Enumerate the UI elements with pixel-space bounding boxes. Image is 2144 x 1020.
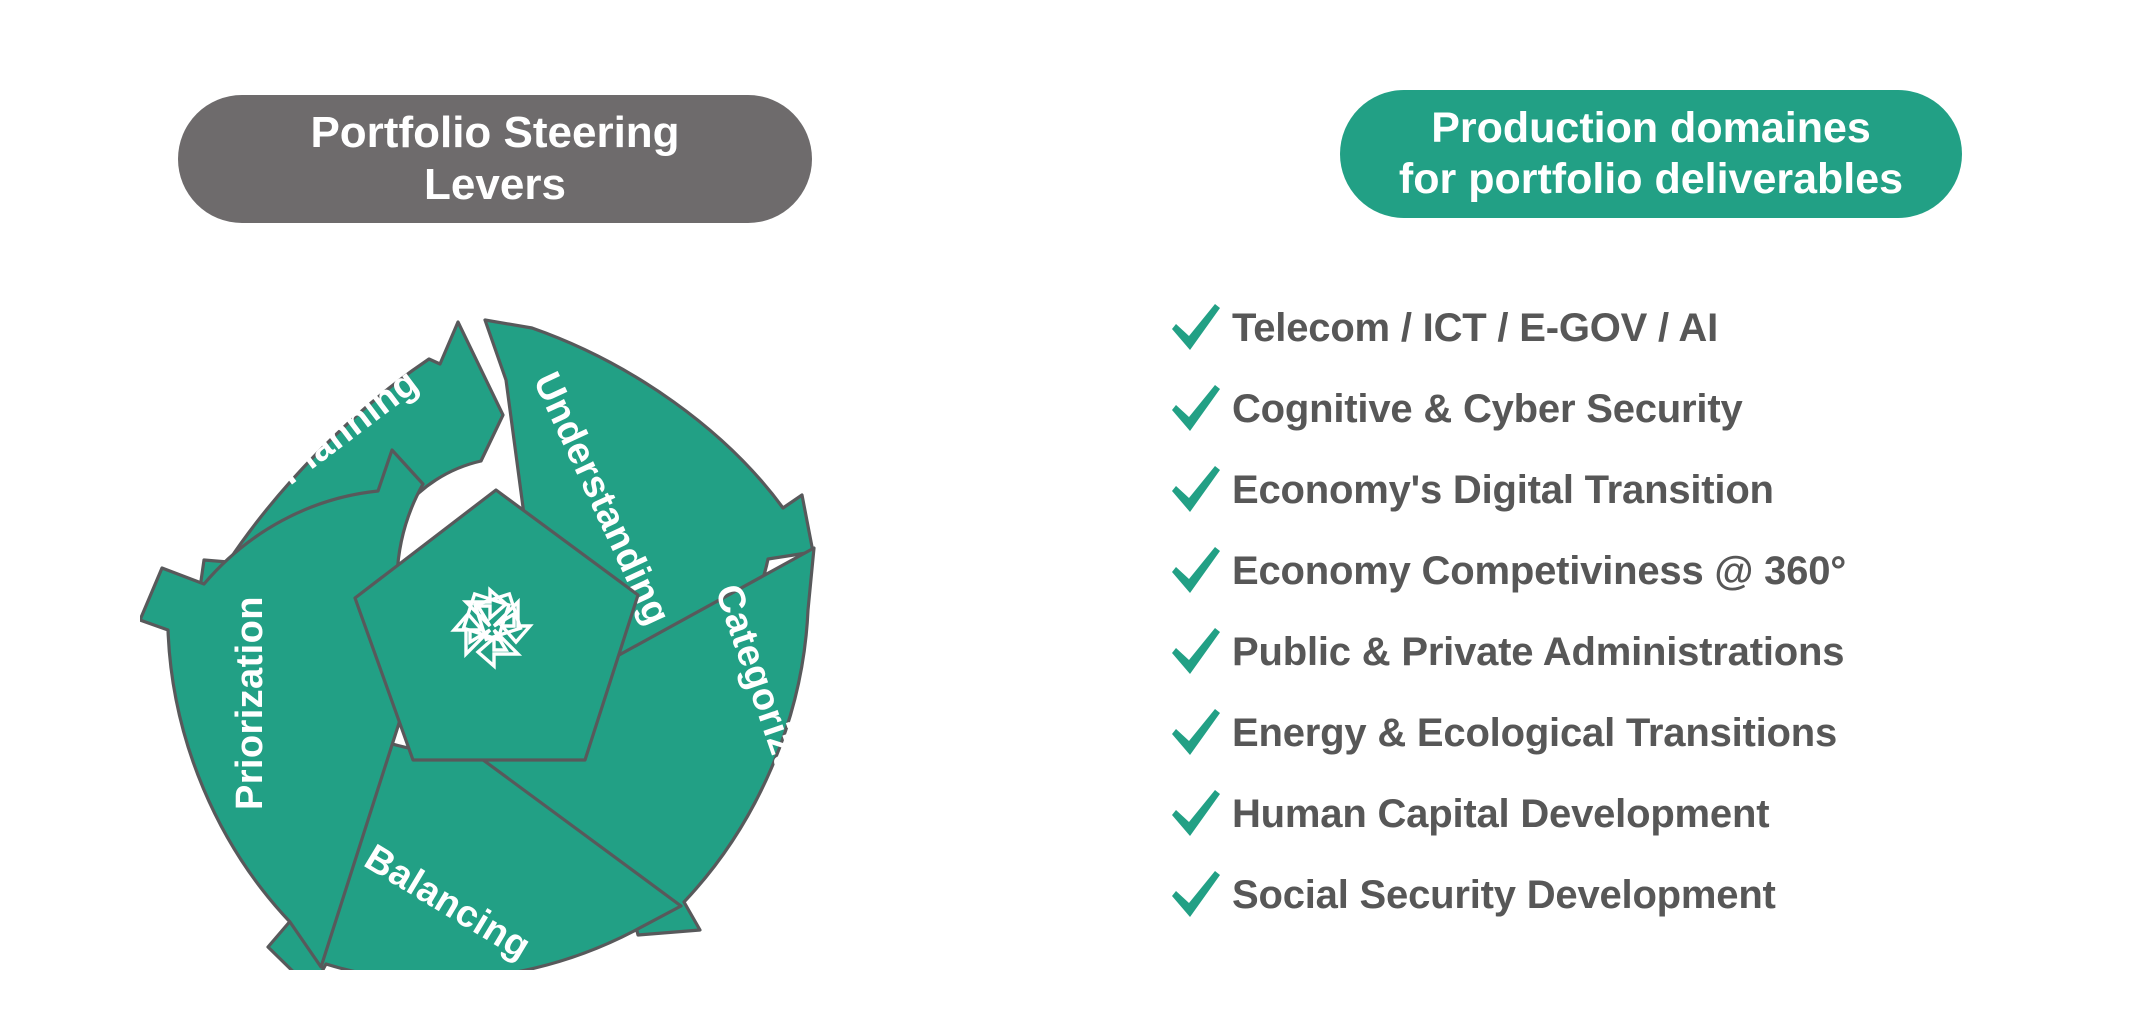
checklist-item-label: Energy & Ecological Transitions: [1232, 711, 1837, 756]
portfolio-steering-levers-pinwheel: Planning Understanding Categorization Ba…: [140, 290, 840, 970]
checklist-item[interactable]: Cognitive & Cyber Security: [1168, 369, 2008, 450]
check-mark-icon: [1168, 788, 1224, 842]
checklist-item-label: Human Capital Development: [1232, 792, 1769, 837]
check-mark-icon: [1168, 707, 1224, 761]
checklist-item-label: Social Security Development: [1232, 873, 1776, 918]
production-domains-checklist: Telecom / ICT / E-GOV / AI Cognitive & C…: [1168, 288, 2008, 936]
domains-header-line-2: for portfolio deliverables: [1399, 154, 1903, 205]
checklist-item-label: Telecom / ICT / E-GOV / AI: [1232, 306, 1718, 351]
checklist-item[interactable]: Telecom / ICT / E-GOV / AI: [1168, 288, 2008, 369]
checklist-item[interactable]: Social Security Development: [1168, 855, 2008, 936]
check-mark-icon: [1168, 302, 1224, 356]
portfolio-steering-levers-header: Portfolio Steering Levers: [178, 95, 812, 223]
levers-header-line-2: Levers: [310, 159, 679, 211]
check-mark-icon: [1168, 545, 1224, 599]
levers-header-line-1: Portfolio Steering: [310, 107, 679, 159]
checklist-item-label: Cognitive & Cyber Security: [1232, 387, 1742, 432]
checklist-item-label: Economy Competiviness @ 360°: [1232, 549, 1846, 594]
check-mark-icon: [1168, 464, 1224, 518]
check-mark-icon: [1168, 869, 1224, 923]
checklist-item[interactable]: Economy Competiviness @ 360°: [1168, 531, 2008, 612]
checklist-item[interactable]: Energy & Ecological Transitions: [1168, 693, 2008, 774]
checklist-item-label: Economy's Digital Transition: [1232, 468, 1774, 513]
production-domains-header: Production domaines for portfolio delive…: [1340, 90, 1962, 218]
check-mark-icon: [1168, 626, 1224, 680]
checklist-item[interactable]: Public & Private Administrations: [1168, 612, 2008, 693]
pinwheel-label-priorization: Priorization: [229, 596, 271, 810]
check-mark-icon: [1168, 383, 1224, 437]
domains-header-line-1: Production domaines: [1399, 103, 1903, 154]
checklist-item-label: Public & Private Administrations: [1232, 630, 1844, 675]
checklist-item[interactable]: Human Capital Development: [1168, 774, 2008, 855]
checklist-item[interactable]: Economy's Digital Transition: [1168, 450, 2008, 531]
